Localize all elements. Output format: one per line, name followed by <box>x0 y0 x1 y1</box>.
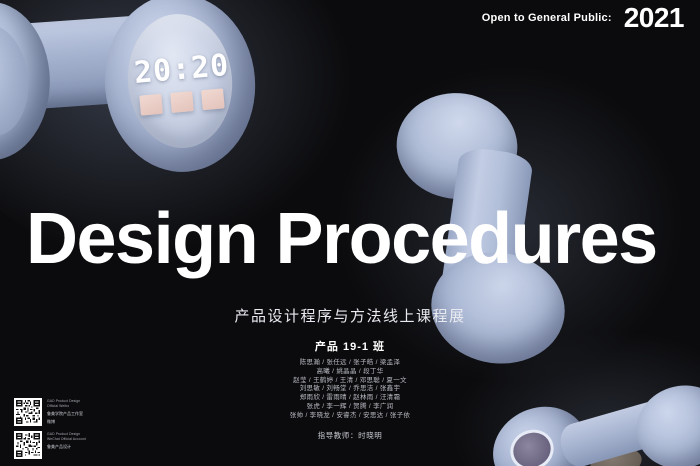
qr-block: GAD Product Design Official Weibo 鲁美学院产品… <box>14 398 86 459</box>
student-name-line: 陈思瀚 / 张任远 / 张子皓 / 梁孟泽 <box>0 359 700 368</box>
student-name-line: 郑雨欣 / 雷雨晴 / 赵林雨 / 汪清霜 <box>0 394 700 403</box>
student-name-line: 刘思敏 / 刘畅堂 / 乔思洁 / 张鑫宇 <box>0 385 700 394</box>
qr-cn-line1: 鲁美学院产品工作室 <box>47 411 83 417</box>
qr-text-weibo: GAD Product Design Official Weibo 鲁美学院产品… <box>47 398 83 424</box>
header-label: Open to General Public: <box>482 12 612 24</box>
qr-en-line2: Official Weibo <box>47 404 83 409</box>
qr-en-line2: WeChat Official Account <box>47 437 86 442</box>
student-name-line: 张帅 / 李晓龙 / 安睿杰 / 安思达 / 张子依 <box>0 412 700 421</box>
qr-code-wechat-icon[interactable] <box>14 431 42 459</box>
student-name-list: 陈思瀚 / 张任远 / 张子皓 / 梁孟泽 高曦 / 姚晶晶 / 段丁华 赵莹 … <box>0 359 700 420</box>
header: Open to General Public: 2021 <box>482 4 684 32</box>
qr-text-wechat: GAD Product Design WeChat Official Accou… <box>47 431 86 450</box>
qr-code-weibo-icon[interactable] <box>14 398 42 426</box>
qr-row-weibo[interactable]: GAD Product Design Official Weibo 鲁美学院产品… <box>14 398 86 426</box>
class-name: 产品 19-1 班 <box>0 338 700 354</box>
student-name-line: 张虎 / 李一辉 / 贺腾 / 李广润 <box>0 403 700 412</box>
poster-canvas: 20:20 Open to General Public: 2021 Desig… <box>0 0 700 466</box>
header-year: 2021 <box>624 4 684 32</box>
page-subtitle: 产品设计程序与方法线上课程展 <box>0 305 700 326</box>
qr-cn-line1: 鲁美产品设计 <box>47 444 86 450</box>
student-name-line: 高曦 / 姚晶晶 / 段丁华 <box>0 368 700 377</box>
clock-button[interactable] <box>139 94 163 116</box>
instructor-line: 指导教师：时晓明 <box>0 430 700 441</box>
page-title: Design Procedures <box>26 203 657 275</box>
qr-cn-line2: 微博 <box>47 419 83 425</box>
credits-block: 产品 19-1 班 陈思瀚 / 张任远 / 张子皓 / 梁孟泽 高曦 / 姚晶晶… <box>0 338 700 441</box>
clock-button[interactable] <box>201 88 225 110</box>
qr-row-wechat[interactable]: GAD Product Design WeChat Official Accou… <box>14 431 86 459</box>
student-name-line: 赵莹 / 王鹤婷 / 王清 / 邓思聪 / 夏一文 <box>0 377 700 386</box>
clock-button[interactable] <box>170 91 194 113</box>
